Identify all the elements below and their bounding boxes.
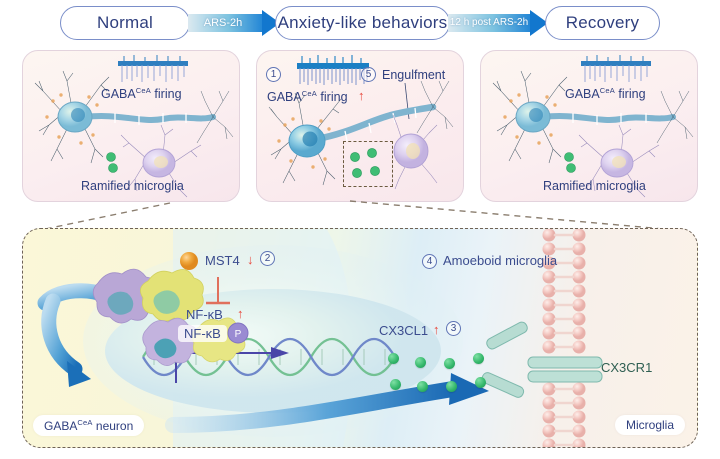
flow-arrow-ars-2h-label: ARS-2h <box>184 15 262 31</box>
microglia-label-normal: Ramified microglia <box>81 179 184 193</box>
flow-stage-anxiety: Anxiety-like behaviors <box>275 6 450 40</box>
panel-recovery: GABACeA firing <box>480 50 698 202</box>
flow-stage-recovery-label: Recovery <box>566 13 639 33</box>
step-marker-4-label: 4 <box>427 256 433 267</box>
panel-normal: GABACeA firing <box>22 50 240 202</box>
cx3cl1-up-arrow: ↑ <box>433 323 440 336</box>
nfkb-nucleus-name: NF-κB <box>184 326 221 341</box>
microglia-label-mechanism: Microglia <box>615 415 685 435</box>
microglia-label-recovery: Ramified microglia <box>543 179 646 193</box>
flow-stage-anxiety-label: Anxiety-like behaviors <box>278 13 448 33</box>
flow-arrow-ars-2h: ARS-2h <box>188 10 280 36</box>
cx3cl1-dot <box>388 353 399 364</box>
cx3cl1-dot <box>475 377 486 388</box>
cx3cl1-dot <box>390 379 401 390</box>
neuron-label-text: GABA <box>44 419 77 433</box>
zoom-region-box <box>343 141 393 187</box>
nfkb-nucleus-label: NF-κB <box>178 325 227 342</box>
cx3cl1-label: CX3CL1 <box>379 323 428 338</box>
mst4-name: MST4 <box>205 253 240 268</box>
nfkb-cytoplasm-name: NF-κB <box>186 307 223 322</box>
step-marker-2: 2 <box>260 251 275 266</box>
neuron-label-sup: CeA <box>77 418 92 427</box>
step-marker-3-label: 3 <box>451 323 457 334</box>
nfkb-up-arrow: ↑ <box>237 307 244 320</box>
cx3cl1-dot <box>446 381 457 392</box>
mst4-down-arrow: ↓ <box>247 253 254 266</box>
flow-arrow-12h-post-ars: 12 h post ARS-2h <box>448 10 548 36</box>
cx3cl1-name: CX3CL1 <box>379 323 428 338</box>
flow-arrow-12h-post-ars-label: 12 h post ARS-2h <box>446 15 532 31</box>
mechanism-panel: P <box>22 228 698 448</box>
flow-stage-recovery: Recovery <box>545 6 660 40</box>
step-marker-2-label: 2 <box>265 253 271 264</box>
flow-stage-normal: Normal <box>60 6 190 40</box>
neuron-label-suffix: neuron <box>93 419 134 433</box>
cx3cl1-dot <box>415 357 426 368</box>
panel-anxiety: 1 <box>256 50 464 202</box>
cx3cl1-dot <box>444 358 455 369</box>
cx3cr1-receptor <box>528 351 608 391</box>
mst4-label: MST4 <box>205 253 240 268</box>
cx3cl1-dot <box>473 353 484 364</box>
cx3cr1-label: CX3CR1 <box>601 360 652 375</box>
flow-stage-normal-label: Normal <box>97 13 153 33</box>
flow-header: Normal ARS-2h Anxiety-like behaviors 12 … <box>0 6 720 44</box>
figure-root: Normal ARS-2h Anxiety-like behaviors 12 … <box>0 0 720 459</box>
gaba-cea-neuron-label: GABACeA neuron <box>33 415 144 436</box>
nfkb-cytoplasm-label: NF-κB <box>186 307 223 322</box>
cx3cl1-dot <box>417 381 428 392</box>
amoeboid-microglia-label: Amoeboid microglia <box>443 253 557 268</box>
svg-text:P: P <box>235 329 242 340</box>
step-marker-4: 4 <box>422 254 437 269</box>
step-marker-3: 3 <box>446 321 461 336</box>
